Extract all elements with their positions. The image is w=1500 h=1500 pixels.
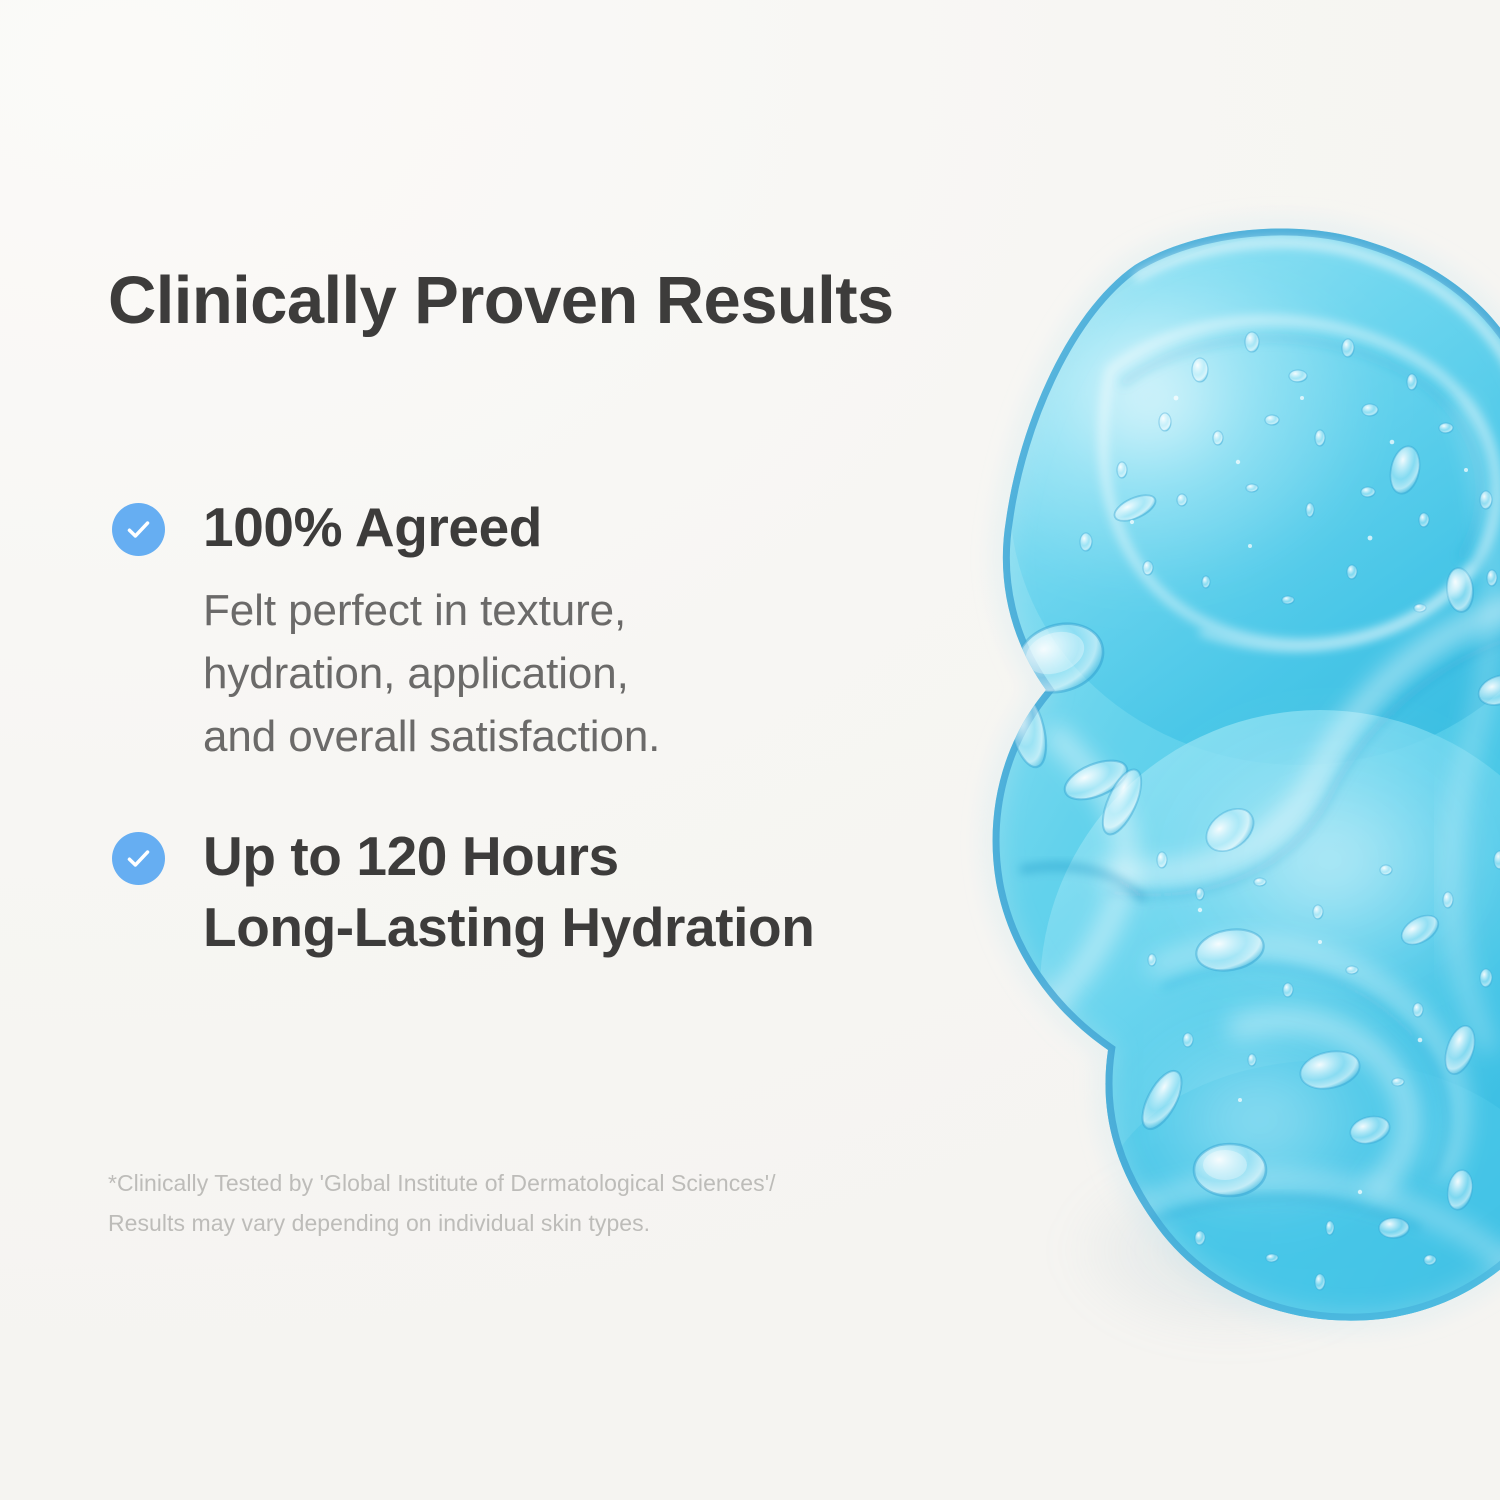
benefit-title: Up to 120 Hours Long-Lasting Hydration <box>203 821 968 962</box>
benefit-description: Felt perfect in texture, hydration, appl… <box>203 580 968 769</box>
benefit-list: 100% Agreed Felt perfect in texture, hyd… <box>108 492 968 962</box>
list-item: 100% Agreed Felt perfect in texture, hyd… <box>108 492 968 769</box>
list-item: Up to 120 Hours Long-Lasting Hydration <box>108 821 968 962</box>
disclaimer-text: *Clinically Tested by 'Global Institute … <box>108 1164 776 1243</box>
marketing-copy: Clinically Proven Results 100% Agreed Fe… <box>108 0 988 1500</box>
check-circle-icon <box>112 832 165 885</box>
benefit-title: 100% Agreed <box>203 492 968 562</box>
check-circle-icon <box>112 503 165 556</box>
page-title: Clinically Proven Results <box>108 262 894 339</box>
